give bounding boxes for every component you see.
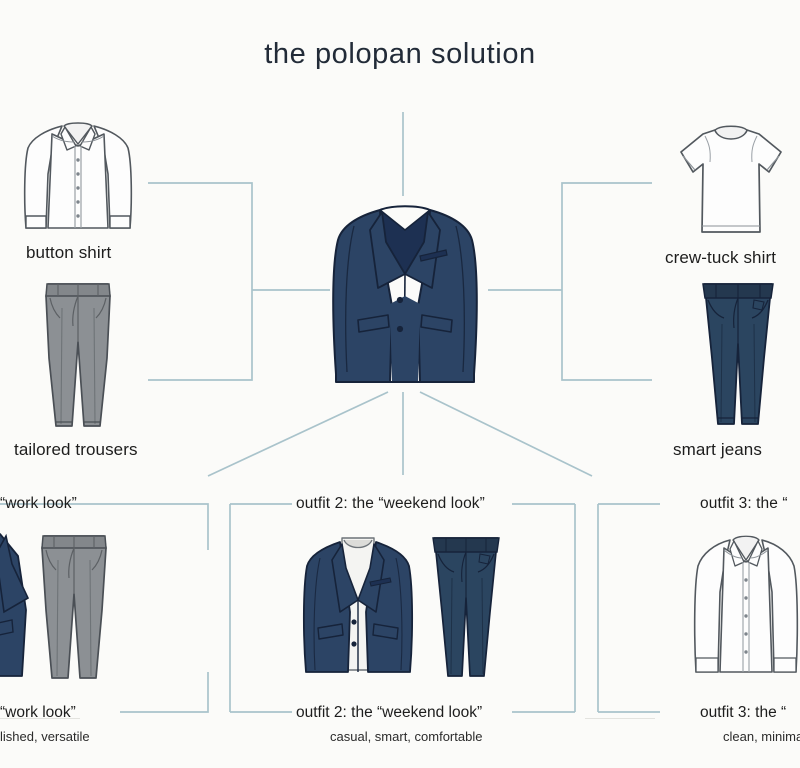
- outfit-2-blazer-with-tee[interactable]: [296, 532, 420, 680]
- label-tailored-trousers: tailored trousers: [14, 440, 138, 460]
- trousers-icon[interactable]: [28, 278, 128, 430]
- outfit-1-caption-sub: lished, versatile: [0, 729, 90, 744]
- outfit-2-header: outfit 2: the “weekend look”: [296, 495, 485, 513]
- outfit-3-header: outfit 3: the “: [700, 495, 788, 513]
- caption-rule-right: [585, 718, 655, 719]
- outfit-1-trousers[interactable]: [28, 530, 120, 682]
- outfit-1-caption-title: “work look”: [0, 704, 76, 722]
- outfit-3-caption-sub: clean, minima: [723, 729, 800, 744]
- label-smart-jeans: smart jeans: [673, 440, 762, 460]
- outfit-3-caption-title: outfit 3: the “: [700, 704, 786, 722]
- tshirt-icon[interactable]: [675, 122, 787, 236]
- diagram-canvas: the polopan solution: [0, 0, 800, 768]
- outfit-2-jeans[interactable]: [424, 532, 508, 680]
- label-crew-tuck-shirt: crew-tuck shirt: [665, 248, 776, 268]
- outfit-3-shirt[interactable]: [692, 530, 800, 682]
- jeans-icon[interactable]: [690, 278, 786, 428]
- label-button-shirt: button shirt: [26, 243, 111, 263]
- outfit-2-caption-title: outfit 2: the “weekend look”: [296, 704, 482, 722]
- dress-shirt-icon[interactable]: [18, 116, 138, 236]
- hub-navy-blazer[interactable]: [320, 196, 490, 394]
- outfit-2-caption-sub: casual, smart, comfortable: [330, 729, 482, 744]
- page-title: the polopan solution: [0, 38, 800, 71]
- outfit-1-header: “work look”: [0, 495, 77, 513]
